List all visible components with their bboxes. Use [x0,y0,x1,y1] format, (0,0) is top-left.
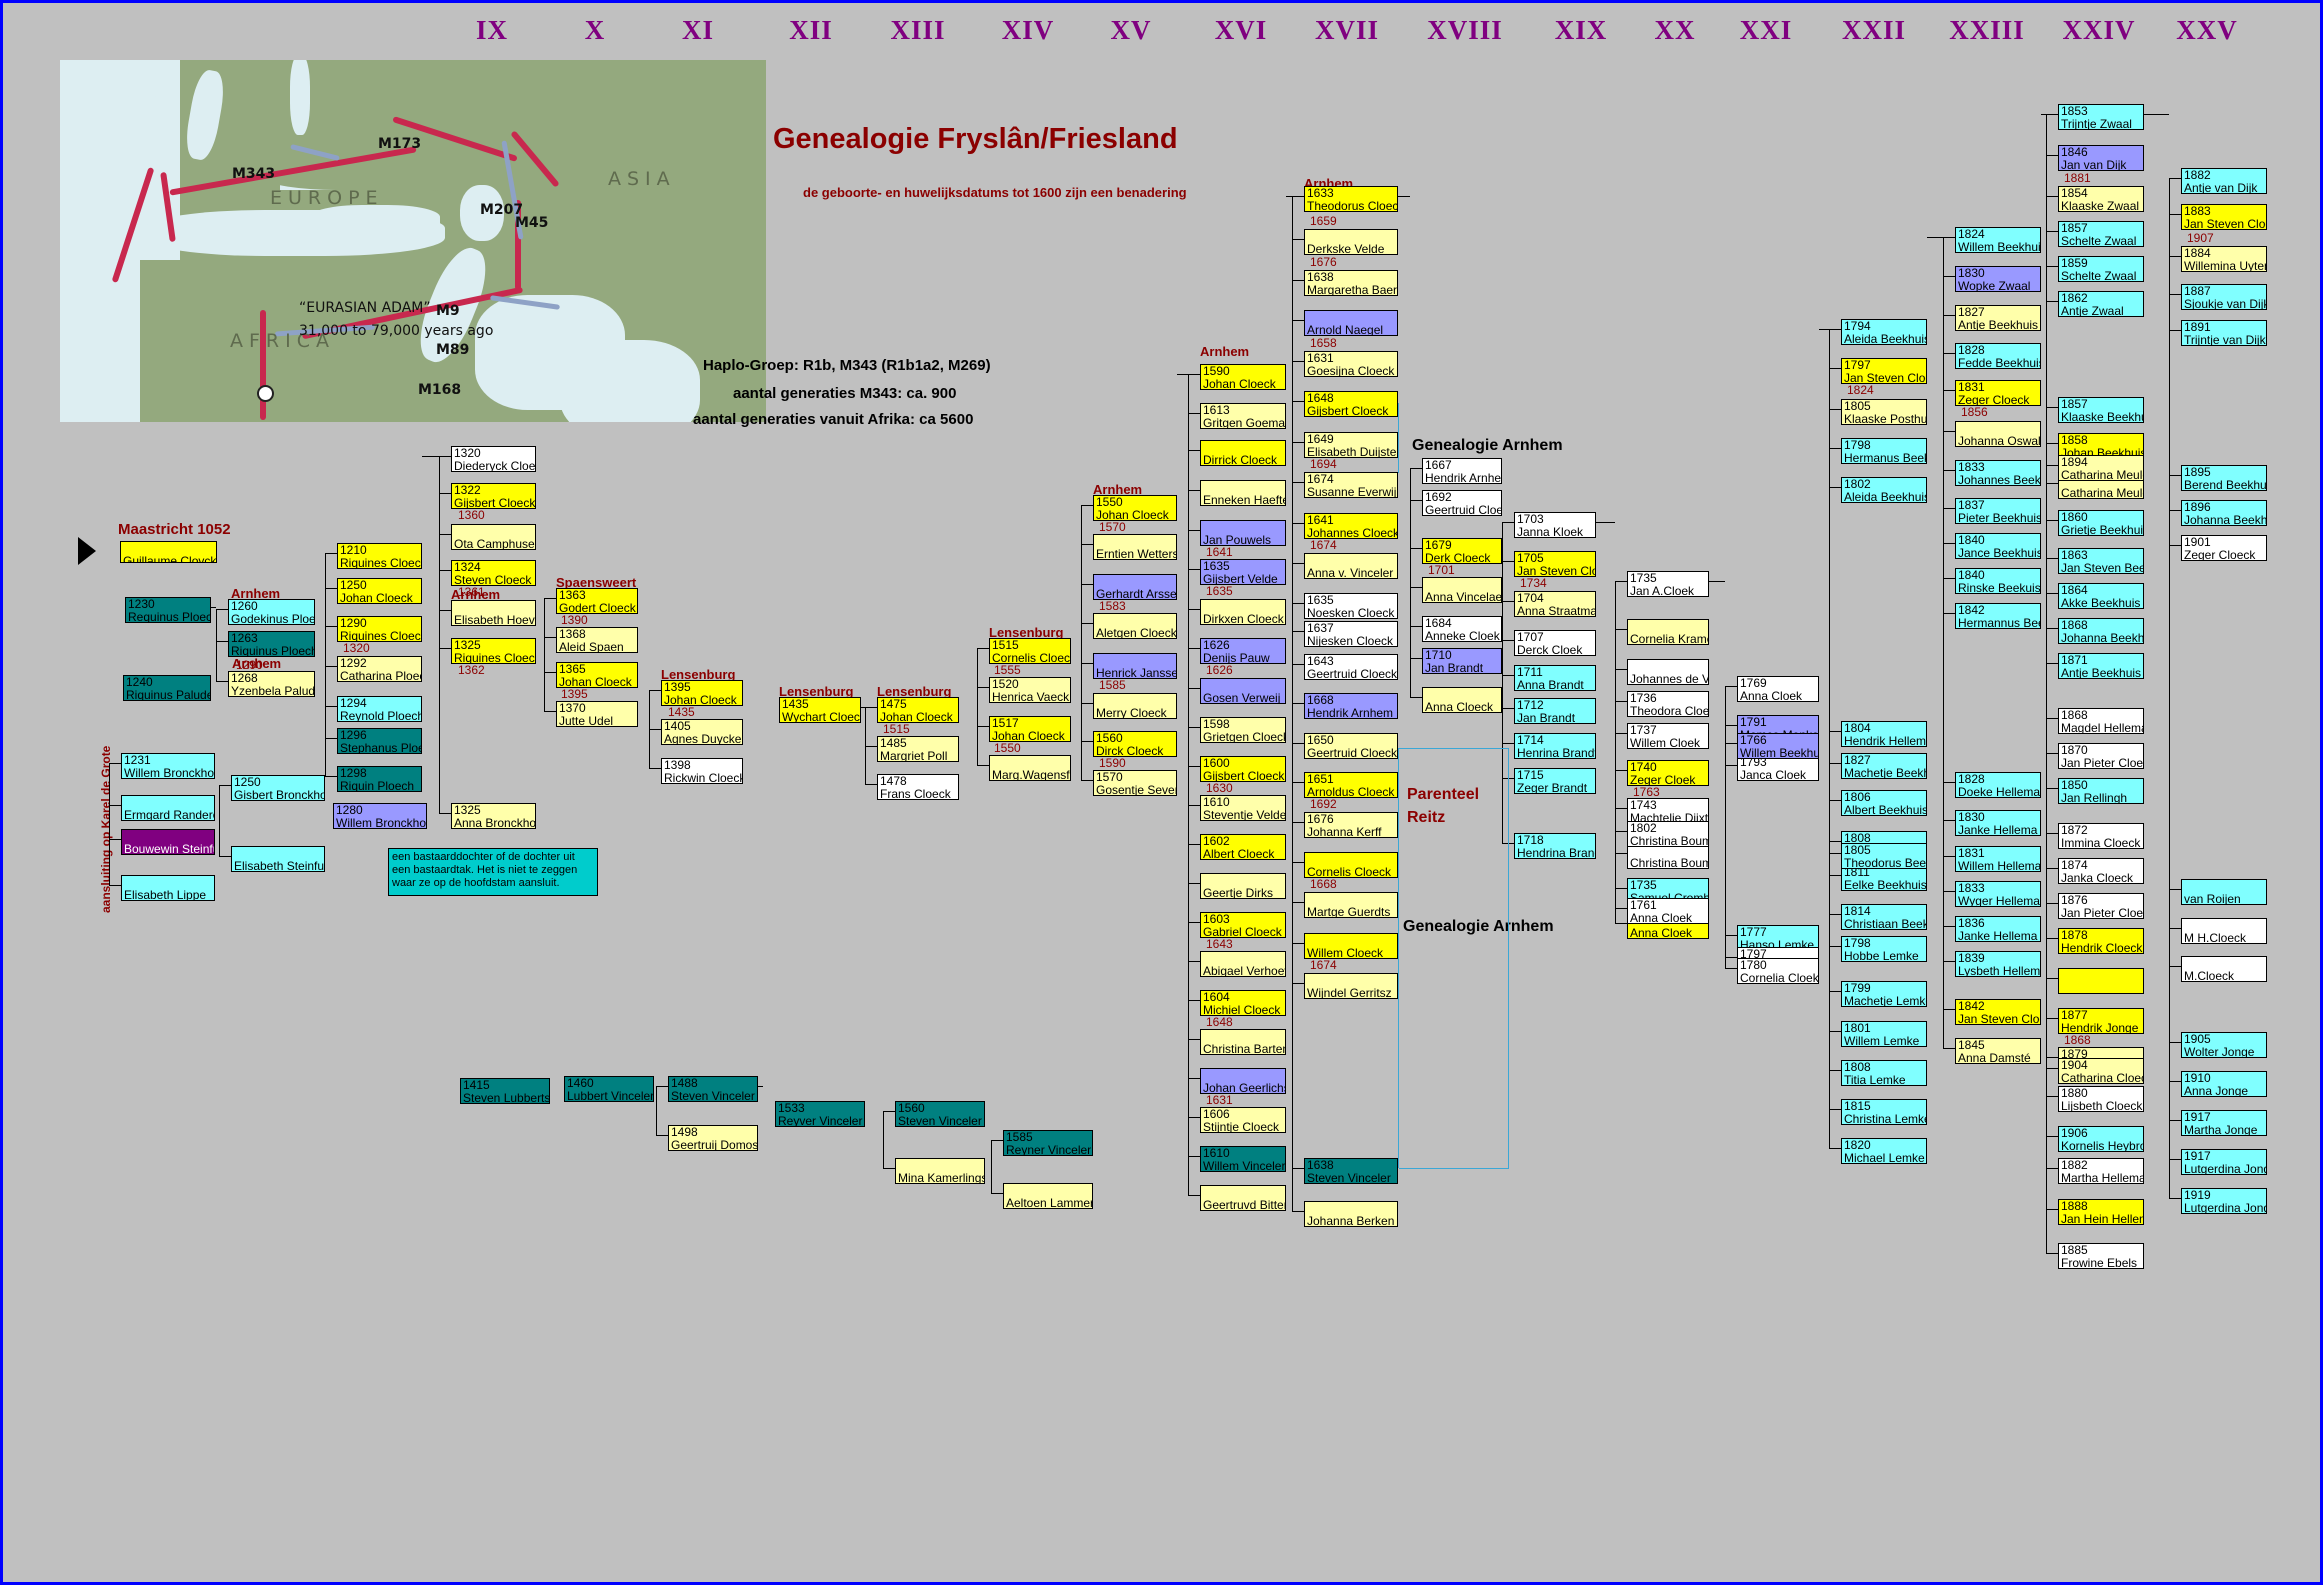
person-box[interactable] [2058,968,2144,994]
person-box[interactable]: 1240Riquinus Palude [123,675,211,701]
person-box[interactable]: Dirkxen Cloeck [1200,599,1286,625]
person-name: Cornelis Cloeck [1307,866,1395,878]
person-box[interactable]: 1290Riquines Cloeck [337,616,422,642]
person-name: Catharina Cloeck [2061,1072,2141,1084]
connector-line [1292,523,1304,524]
person-box[interactable]: 1842Hermannus Beekhuis [1955,603,2041,629]
person-box[interactable]: 1870Jan Pieter Cloeck [2058,743,2144,769]
person-box[interactable]: 1515Cornelis Cloeck [989,638,1071,664]
connector-line [2046,1068,2058,1069]
person-box[interactable]: 1705Jan Steven Cloeck [1514,551,1596,577]
person-name: Dirrick Cloeck [1203,454,1283,466]
connector-line [1292,603,1304,604]
person-box[interactable]: 1828Fedde Beekhuis [1955,343,2041,369]
connector-line [1188,1039,1200,1040]
connector-line [1829,800,1841,801]
person-box[interactable]: 1872Immina Cloeck [2058,823,2144,849]
marriage-year: 1555 [994,663,1021,677]
person-box[interactable]: 1737Willem Cloek [1627,723,1709,749]
person-box[interactable]: 1882Martha Hellema [2058,1158,2144,1184]
person-box[interactable]: Aletgen Cloeck [1093,613,1177,639]
connector-line [1943,431,1955,432]
person-name: Johan Cloeck [880,711,956,723]
person-box[interactable]: 1325Riquines Cloeck [451,638,536,664]
person-name: Janna Kloek [1517,526,1593,538]
person-box[interactable]: 1830Janke Hellema [1955,810,2041,836]
person-box[interactable]: Anna v. Vinceler [1304,553,1398,579]
person-box[interactable]: 1650Geertruid Cloeck [1304,733,1398,759]
person-box[interactable]: 1268Yzenbela Palude [228,671,315,697]
person-box[interactable]: 1883Jan Steven Cloeck [2181,204,2267,230]
person-box[interactable]: Johan Geerlichs [1200,1068,1286,1094]
person-box[interactable]: 1853Trijntje Zwaal [2058,104,2144,130]
person-box[interactable]: M.Cloeck [2181,956,2267,982]
person-box[interactable]: 1714Henrina Brandt [1514,733,1596,759]
person-box[interactable]: 1231Willem Bronckhorst [121,753,215,779]
person-box[interactable]: 1831Zeger Cloeck [1955,380,2041,406]
marriage-year: 1585 [1099,678,1126,692]
connector-line [2169,928,2181,929]
person-name: Christina Barten [1203,1043,1283,1055]
person-name: Derk Cloeck [1425,552,1499,564]
person-box[interactable]: 1322Gijsbert Cloeck [451,483,536,509]
person-box[interactable]: 1833Wyger Hellema [1955,881,2041,907]
person-box[interactable]: Willem Cloeck [1304,933,1398,959]
person-box[interactable]: 1613Gritgen Goemans [1200,403,1286,429]
person-box[interactable]: 1637Nijesken Cloeck [1304,621,1398,647]
person-box[interactable]: 1715Zeger Brandt [1514,768,1596,794]
person-box[interactable]: Elisabeth Lippe [121,875,215,901]
person-box[interactable]: 1860Grietje Beekhuis [2058,510,2144,536]
person-box[interactable]: 1230Requinus Ploech [125,597,211,623]
person-box[interactable]: 1820Michael Lemke [1841,1138,1927,1164]
connector-line [1292,1168,1304,1169]
person-box[interactable]: Marg.Wagensfelt [989,755,1071,781]
person-box[interactable]: 1837Pieter Beekhuis [1955,498,2041,524]
person-box[interactable]: 1874Janka Cloeck [2058,858,2144,884]
person-box[interactable]: 1876Jan Pieter Cloeck [2058,893,2144,919]
person-box[interactable]: 1626Denijs Pauw [1200,638,1286,664]
person-name: Jan Pieter Cloeck [2061,907,2141,919]
person-box[interactable]: Merry Cloeck [1093,693,1177,719]
person-box[interactable]: 1804Hendrik Hellema [1841,721,1927,747]
person-box[interactable]: 1638Margaretha Baerken [1304,270,1398,296]
person-box[interactable]: 1260Godekinus Ploech [228,599,315,625]
person-name: Schelte Zwaal [2061,270,2141,282]
person-box[interactable]: Enneken Haeften [1200,480,1286,506]
person-box[interactable]: 1814Christiaan Beekhuis [1841,904,1927,930]
person-box[interactable]: 1797Jan Steven Cloeck [1841,358,1927,384]
person-box[interactable]: 1263Riquinus Ploech [228,631,315,657]
person-box[interactable]: 1736Theodora Cloek [1627,691,1709,717]
person-box[interactable]: 1710Jan Brandt [1422,648,1502,674]
person-name: Yzenbela Palude [231,685,312,697]
person-name: Hermanus Beekhuis [1844,452,1924,464]
person-name: Antje Beekhuis [1958,319,2038,331]
person-box[interactable]: 1363Godert Cloeck [556,588,638,614]
person-box[interactable]: 1550Johan Cloeck [1093,495,1177,521]
person-box[interactable]: 1842Jan Steven Cloeck [1955,999,2041,1025]
generation-column-XXV: XXV [2176,15,2238,46]
person-name: Hendrik Arnhem [1425,472,1499,484]
person-box[interactable]: 1868Johanna Beekhuis [2058,618,2144,644]
person-box[interactable]: Cornelia Kramer [1627,619,1709,645]
person-box[interactable]: 1846Jan van Dijk [2058,145,2144,171]
person-name: Wychart Cloeck [782,711,858,723]
person-box[interactable]: 1488Steven Vinceler [668,1076,758,1102]
person-name: Steven Lubberts [463,1092,547,1104]
person-name: Catharina Meulen [2061,469,2141,481]
person-box[interactable]: 1560Dirck Cloeck [1093,731,1177,757]
person-box[interactable]: 1610Steventje Velde [1200,795,1286,821]
person-box[interactable]: Geertje Dirks [1200,873,1286,899]
page-title: Genealogie Fryslân/Friesland [773,123,1178,156]
connector-line [1829,875,1841,876]
person-box[interactable]: Jan Pouwels [1200,520,1286,546]
person-box[interactable]: 1919Lutgerdina Jonge [2181,1188,2267,1214]
person-box[interactable]: 1824Willem Beekhuis [1955,227,2041,253]
person-box[interactable]: 1830Wopke Zwaal [1955,266,2041,292]
person-box[interactable]: 1901Zeger Cloeck [2181,535,2267,561]
person-box[interactable]: 1478Frans Cloeck [877,774,959,800]
person-box[interactable]: 1292Catharina Ploech [337,656,422,682]
person-box[interactable]: 1648Gijsbert Cloeck [1304,391,1398,417]
person-box[interactable]: 1761Anna Cloek [1627,898,1709,924]
person-box[interactable]: Derkske Velde [1304,229,1398,255]
person-box[interactable]: 1827Machetje Beekhuis [1841,753,1927,779]
person-box[interactable]: Johannes de Vries [1627,659,1709,685]
person-box[interactable]: 1854Klaaske Zwaal [2058,186,2144,212]
person-box[interactable]: Arnold Naegel [1304,310,1398,336]
person-box[interactable]: 1415Steven Lubberts [460,1078,550,1104]
person-box[interactable]: Mina Kamerlings [895,1158,985,1184]
person-box[interactable]: 1840Rinske Beekuis [1955,568,2041,594]
person-box[interactable]: Geertruvd Bitter [1200,1185,1286,1211]
person-box[interactable]: 1862Antje Zwaal [2058,291,2144,317]
person-box[interactable]: 1882Antje van Dijk [2181,168,2267,194]
person-box[interactable]: 1649Elisabeth Duijsterbeek [1304,432,1398,458]
person-box[interactable]: 1827Antje Beekhuis [1955,305,2041,331]
person-box[interactable]: 1839Lysbeth Hellema [1955,951,2041,977]
person-box[interactable]: 1735Jan A.Cloek [1627,571,1709,597]
person-name: Machetje Beekhuis [1844,767,1924,779]
person-box[interactable]: 1894Catharina Meulen [2058,455,2144,481]
person-box[interactable]: Christina Barten [1200,1029,1286,1055]
person-box[interactable]: 1769Anna Cloek [1737,676,1819,702]
person-box[interactable]: Elisabeth Hoeveleek [451,600,536,626]
connector-line [1615,888,1627,889]
connector-line [1292,664,1304,665]
person-box[interactable]: Guillaume Clovck [120,541,217,563]
person-box[interactable]: 1250Johan Cloeck [337,578,422,604]
person-box[interactable]: Gerhardt Arssen [1093,574,1177,600]
person-box[interactable]: 1460Lubbert Vinceler [564,1076,654,1102]
connector-line [1943,856,1955,857]
person-box[interactable]: 1633Theodorus Cloeck [1304,186,1398,212]
person-box[interactable]: 1880Lijsbeth Cloeck [2058,1086,2144,1112]
connector-line [2169,214,2181,215]
connector-line [422,456,439,457]
place-header-arnhem-9: Arnhem [1200,344,1249,359]
connector-line [1188,530,1200,531]
person-box[interactable]: Wijndel Gerritsz [1304,973,1398,999]
marriage-year: 1674 [1310,958,1337,972]
person-box[interactable]: 1828Doeke Hellema [1955,772,2041,798]
person-name: Elisabeth Hoeveleek [454,614,533,626]
connector-line [2046,1018,2058,1019]
person-box[interactable]: Aeltoen Lammerts [1003,1183,1093,1209]
person-box[interactable]: 1904Catharina Cloeck [2058,1058,2144,1084]
person-box[interactable]: 1766Willem Beekhuis [1737,733,1819,759]
person-box[interactable]: 1641Johannes Cloeck [1304,513,1398,539]
person-box[interactable]: 1917Martha Jonge [2181,1110,2267,1136]
connector-line [991,1140,992,1193]
connector-line [2169,330,2181,331]
person-box[interactable]: van Roijen [2181,879,2267,905]
person-box[interactable]: 1485Margriet Poll [877,736,959,762]
person-box[interactable]: 1250Gisbert Bronckhorst [231,775,325,801]
connector-line [656,1086,657,1135]
person-box[interactable]: Henrick Janssen [1093,653,1177,679]
person-box[interactable]: Johanna Oswald [1955,421,2041,447]
person-box[interactable]: 1798Hermanus Beekhuis [1841,438,1927,464]
person-box[interactable]: 1887Sjoukje van Dijk [2181,284,2267,310]
person-box[interactable]: 1891Trijntje van Dijk [2181,320,2267,346]
connector-line [1725,968,1737,969]
person-box[interactable]: 1585Reyner Vinceler [1003,1130,1093,1156]
person-box[interactable]: 1711Anna Brandt [1514,665,1596,691]
person-box[interactable]: 1324Steven Cloeck [451,560,536,586]
generation-column-XVII: XVII [1315,15,1379,46]
person-name: Guillaume Clovck [123,555,214,563]
person-box[interactable]: 1395Johan Cloeck [661,680,743,706]
marriage-year: 1668 [1310,877,1337,891]
person-box[interactable]: Bouwewin Steinfurt [121,829,215,855]
person-name: Margaretha Baerken [1307,284,1395,296]
person-box[interactable]: 1845Anna Damsté [1955,1038,2041,1064]
person-box[interactable]: 1831Willem Hellema [1955,846,2041,872]
person-box[interactable]: 1498Geertruij Domoselaer [668,1125,758,1151]
person-name: Margriet Poll [880,750,956,762]
person-name: Johanna Oswald [1958,435,2038,447]
person-box[interactable]: 1631Goesijna Cloeck [1304,351,1398,377]
person-name: Jan A.Cloek [1630,585,1706,597]
person-box[interactable]: 1570Gosentje Seventer [1093,770,1177,796]
person-name: Gijsbert Cloeck [1203,770,1283,782]
person-box[interactable]: 1370Jutte Udel [556,701,638,727]
person-name: Michiel Cloeck [1203,1004,1283,1016]
person-box[interactable]: 1740Zeger Cloek [1627,760,1709,786]
person-name: Johanna Beekhuis [2061,632,2141,644]
person-box[interactable]: 1604Michiel Cloeck [1200,990,1286,1016]
person-box[interactable]: 1808Titia Lemke [1841,1060,1927,1086]
person-box[interactable]: 1794Aleida Beekhuis [1841,319,1927,345]
person-name: Albert Cloeck [1203,848,1283,860]
connector-line [1615,701,1627,702]
person-box[interactable]: Gosen Verweij [1200,678,1286,704]
marriage-year: 1390 [561,613,588,627]
person-box[interactable]: Abigael Verhoeven [1200,951,1286,977]
person-name: Johan Cloeck [1203,378,1283,390]
person-box[interactable]: 1868Magdel Hellema [2058,708,2144,734]
person-name: Willem Cloeck [1307,947,1395,959]
person-box[interactable]: 1895Berend Beekhuis [2181,465,2267,491]
person-box[interactable]: 1298Riquin Ploech [337,766,422,792]
person-box[interactable]: 1805Klaaske Posthuma [1841,399,1927,425]
person-box[interactable]: 1801Willem Lemke [1841,1021,1927,1047]
person-box[interactable]: 1884Willemina Uytenhoudt [2181,246,2267,272]
marriage-year: 1643 [1206,937,1233,951]
person-box[interactable]: 1802Aleida Beekhuis [1841,477,1927,503]
person-box[interactable]: 1805Theodorus Beekhuis [1841,843,1927,869]
person-box[interactable]: 1435Wychart Cloeck [779,697,861,723]
person-box[interactable]: 1600Gijsbert Cloeck [1200,756,1286,782]
person-box[interactable]: 1877Hendrik Jonge [2058,1008,2144,1034]
person-box[interactable]: Elisabeth Steinfurt [231,846,325,872]
person-name: Jan Steven Beekhuis [2061,562,2141,574]
person-box[interactable]: 1325Anna Bronckhorst [451,803,536,829]
genealogy-chart-window: IXXXIXIIXIIIXIVXVXVIXVIIXVIIIXIXXXXXIXXI… [0,0,2323,1585]
connector-line [1829,991,1841,992]
person-box[interactable]: 1684Anneke Cloek [1422,616,1502,642]
generation-column-XIV: XIV [1002,15,1055,46]
person-box[interactable]: Ermgard Randerode [121,795,215,821]
person-box[interactable]: 1520Henrica Vaeck [989,677,1071,703]
connector-line [325,588,337,589]
person-box[interactable]: 1905Wolter Jonge [2181,1032,2267,1058]
person-box[interactable]: 1802Christina Bouman [1627,821,1709,847]
person-box[interactable]: 1602Albert Cloeck [1200,834,1286,860]
person-box[interactable]: Cornelis Cloeck [1304,852,1398,878]
person-box[interactable]: 1857Klaaske Beekhuis [2058,397,2144,423]
person-box[interactable]: 1703Janna Kloek [1514,512,1596,538]
person-box[interactable]: 1610Willem Vinceler [1200,1146,1286,1172]
person-box[interactable]: 1598Grietgen Cloeck [1200,717,1286,743]
person-box[interactable]: 1692Geertruid Cloeck [1422,490,1502,516]
person-box[interactable]: Dirrick Cloeck [1200,440,1286,466]
person-name: Lijsbeth Cloeck [2061,1100,2141,1112]
connector-line [656,1135,668,1136]
connector-line [439,648,451,649]
person-box[interactable]: 1712Jan Brandt [1514,698,1596,724]
connector-line [325,553,326,776]
person-box[interactable]: Martge Guerdts [1304,892,1398,918]
person-name: Martha Hellema [2061,1172,2141,1184]
person-box[interactable]: 1405Agnes Duyckers [661,719,743,745]
person-box[interactable]: 1635Gijsbert Velde [1200,559,1286,585]
person-name: Christina Bouman [1630,835,1706,847]
person-box[interactable]: 1840Jance Beekhuis [1955,533,2041,559]
person-box[interactable]: Johanna Berken [1304,1201,1398,1227]
person-box[interactable]: Ota Camphusen [451,524,536,550]
person-box[interactable]: 1888Jan Hein Hellema [2058,1199,2144,1225]
person-name: Ota Camphusen [454,538,533,550]
person-box[interactable]: 1871Antje Beekhuis [2058,653,2144,679]
person-box[interactable]: 1560Steven Vinceler [895,1101,985,1127]
person-box[interactable]: 1863Jan Steven Beekhuis [2058,548,2144,574]
map-continent-asia: ASIA [608,168,676,190]
connector-line [865,784,877,785]
connector-line [2169,889,2181,890]
person-box[interactable]: 1606Stijntje Cloeck [1200,1107,1286,1133]
person-box[interactable]: 1294Reynold Ploech [337,696,422,722]
person-box[interactable]: 1679Derk Cloeck [1422,538,1502,564]
person-box[interactable]: 1643Geertruid Cloeck [1304,654,1398,680]
person-birth-year [2061,969,2141,982]
connector-line [1615,831,1627,832]
person-box[interactable]: M H.Cloeck [2181,918,2267,944]
person-box[interactable]: Erntien Wetters [1093,534,1177,560]
connector-line [1829,1070,1841,1071]
person-box[interactable]: 1676Johanna Kerff [1304,812,1398,838]
person-box[interactable]: 1475Johan Cloeck [877,697,959,723]
person-box[interactable]: 1651Arnoldus Cloeck [1304,772,1398,798]
person-box[interactable]: 1780Cornelia Cloek [1737,958,1819,984]
person-box[interactable]: 1815Christina Lemke [1841,1099,1927,1125]
person-box[interactable]: 1398Rickwin Cloeck [661,758,743,784]
person-name: Willemina Uytenhoudt [2184,260,2264,272]
person-box[interactable]: 1806Albert Beekhuis [1841,790,1927,816]
person-box[interactable]: 1859Schelte Zwaal [2058,256,2144,282]
connector-line [1829,841,1841,842]
person-box[interactable]: 1635Noesken Cloeck [1304,593,1398,619]
person-name: Cornelia Cloek [1740,972,1816,984]
person-box[interactable]: 1798Hobbe Lemke [1841,936,1927,962]
person-box[interactable]: 1668Hendrik Arnhem [1304,693,1398,719]
person-box[interactable]: 1850Jan Rellingh [2058,778,2144,804]
person-box[interactable]: 1833Johannes Beekhuis [1955,460,2041,486]
person-box[interactable]: 1836Janke Hellema [1955,916,2041,942]
person-box[interactable]: 1674Susanne Everwijn [1304,472,1398,498]
person-box[interactable]: 1799Machetje Lemke [1841,981,1927,1007]
person-box[interactable]: 1910Anna Jonge [2181,1071,2267,1097]
person-box[interactable]: 1533Reyver Vinceler [775,1101,865,1127]
person-box[interactable]: 1603Gabriel Cloeck [1200,912,1286,938]
person-box[interactable]: 1296Stephanus Ploech [337,728,422,754]
person-box[interactable]: 1638Steven Vinceler [1304,1158,1398,1184]
person-box[interactable]: 1368Aleid Spaen [556,627,638,653]
connector-line [977,648,989,649]
connector-line [1286,196,1292,197]
person-box[interactable]: 1896Johanna Beekhuis [2181,500,2267,526]
person-box[interactable]: 1885Frowine Ebels [2058,1243,2144,1269]
person-box[interactable]: 1857Schelte Zwaal [2058,221,2144,247]
connector-line [1709,581,1725,582]
generation-column-XII: XII [789,15,833,46]
person-box[interactable]: 1590Johan Cloeck [1200,364,1286,390]
person-box[interactable]: Anna Vincelaer [1422,577,1502,603]
person-box[interactable]: 1517Johan Cloeck [989,716,1071,742]
person-box[interactable]: 1707Derck Cloek [1514,630,1596,656]
person-box[interactable]: 1667Hendrik Arnhem [1422,458,1502,484]
person-box[interactable]: 1718Hendrina Brandt [1514,833,1596,859]
person-box[interactable]: 1320Diederyck Cloeck [451,446,536,472]
person-name: Akke Beekhuis [2061,597,2141,609]
person-box[interactable]: 1210Riquines Cloeck [337,543,422,569]
person-name: Godert Cloeck [559,602,635,614]
connector-line [1819,329,1829,330]
person-box[interactable]: Anna Cloeck [1422,687,1502,713]
person-name: Trijntje Zwaal [2061,118,2141,130]
person-box[interactable]: 1917Lutgerdina Jonge [2181,1149,2267,1175]
person-box[interactable]: 1906Kornelis Heybroek [2058,1126,2144,1152]
person-box[interactable]: 1704Anna Straatman [1514,591,1596,617]
person-box[interactable]: 1864Akke Beekhuis [2058,583,2144,609]
person-box[interactable]: 1280Willem Bronckhorst [333,803,427,829]
person-name: Riquin Ploech [340,780,419,792]
person-box[interactable]: 1878Hendrik Cloeck [2058,928,2144,954]
person-box[interactable]: 1365Johan Cloeck [556,662,638,688]
